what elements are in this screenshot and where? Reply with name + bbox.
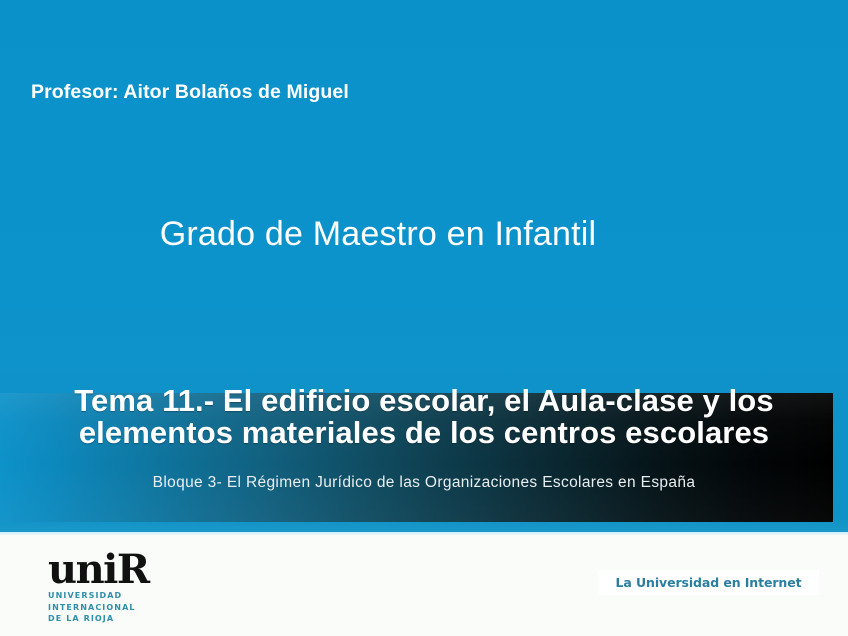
page-title-line-2: elementos materiales de los centros esco… bbox=[0, 417, 848, 449]
page-title: Tema 11.- El edificio escolar, el Aula-c… bbox=[0, 385, 848, 449]
unir-wordmark: uniR bbox=[48, 551, 160, 589]
professor-label: Profesor: Aitor Bolaños de Miguel bbox=[31, 81, 349, 104]
presentation-slide: Profesor: Aitor Bolaños de Miguel Grado … bbox=[0, 0, 848, 636]
tagline-badge: La Universidad en Internet bbox=[598, 570, 819, 595]
footer-divider bbox=[0, 532, 848, 535]
page-title-line-1: Tema 11.- El edificio escolar, el Aula-c… bbox=[0, 385, 848, 417]
degree-title: Grado de Maestro en Infantil bbox=[0, 215, 756, 254]
tagline-text: La Universidad en Internet bbox=[616, 575, 802, 590]
unir-logo-line-3: DE LA RIOJA bbox=[48, 614, 160, 624]
page-subtitle: Bloque 3- El Régimen Jurídico de las Org… bbox=[0, 474, 848, 492]
unir-logo-line-2: INTERNACIONAL bbox=[48, 603, 160, 613]
unir-logo: uniR UNIVERSIDAD INTERNACIONAL DE LA RIO… bbox=[48, 551, 160, 617]
